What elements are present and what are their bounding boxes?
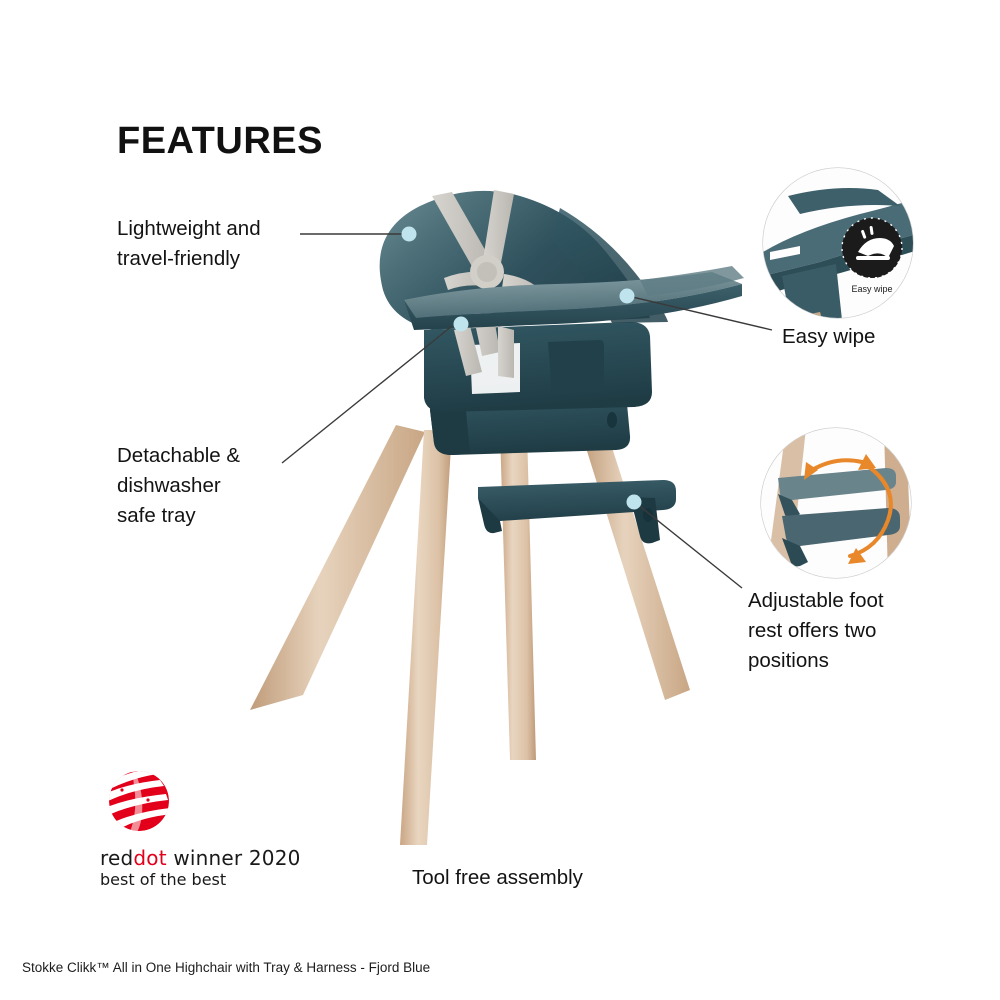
reddot-word-dot: dot — [133, 846, 166, 870]
dot-marker-lightweight — [402, 227, 417, 242]
callout-label-easy-wipe: Easy wipe — [782, 322, 982, 352]
callout-label-adjustable-footrest: Adjustable foot rest offers two position… — [748, 586, 968, 676]
features-diagram: Easy wipe — [0, 0, 1000, 1000]
reddot-word-red: red — [100, 846, 133, 870]
harness-buckle-inner — [477, 262, 497, 282]
reddot-award-title: reddot winner 2020 — [100, 846, 301, 870]
product-caption: Stokke Clikk™ All in One Highchair with … — [22, 959, 430, 977]
wood-leg-back — [500, 432, 536, 760]
reddot-word-rest: winner 2020 — [167, 846, 301, 870]
reddot-award-subtitle: best of the best — [100, 870, 226, 889]
harness-strap-lap-right — [498, 326, 514, 378]
seat-base-pin — [607, 412, 617, 428]
wood-leg-front-left — [400, 430, 452, 845]
seat-slot-right — [548, 340, 604, 393]
dot-marker-easywipe — [620, 289, 635, 304]
callout-label-lightweight: Lightweight and travel-friendly — [117, 214, 347, 274]
wood-leg-front-right — [581, 432, 690, 700]
dot-marker-footrest — [627, 495, 642, 510]
easy-wipe-badge-label: Easy wipe — [851, 284, 892, 294]
page-title: FEATURES — [117, 122, 323, 160]
caption-tool-free-assembly: Tool free assembly — [412, 864, 583, 892]
footrest-inset — [761, 428, 912, 578]
dot-marker-tray — [454, 317, 469, 332]
reddot-award-badge: reddot winner 2020 best of the best — [100, 770, 295, 890]
reddot-sphere-icon — [108, 770, 170, 832]
callout-label-detachable-tray: Detachable & dishwasher safe tray — [117, 441, 327, 531]
